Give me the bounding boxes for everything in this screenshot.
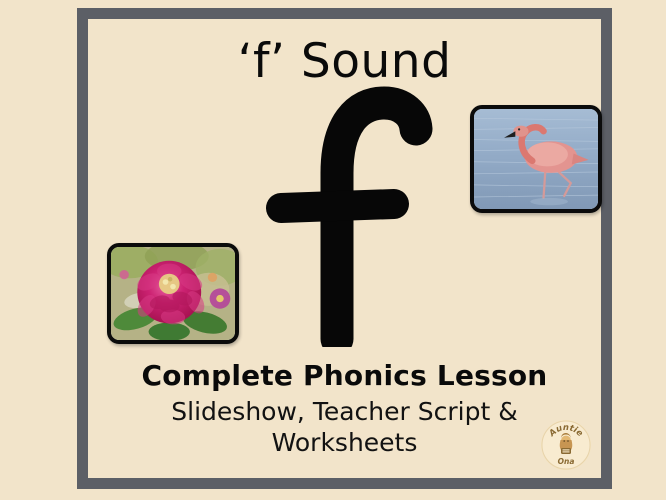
svg-text:Ona: Ona	[558, 457, 575, 466]
cover-frame: ‘f’ Sound	[77, 8, 612, 489]
flower-photo	[107, 243, 239, 344]
cover-frame-inner: ‘f’ Sound	[88, 19, 601, 478]
caption-block: Complete Phonics Lesson Slideshow, Teach…	[96, 360, 593, 458]
flamingo-photo	[470, 105, 602, 213]
page-title: ‘f’ Sound	[88, 37, 601, 86]
auntie-ona-logo: Auntie Ona	[541, 420, 591, 470]
caption-main: Complete Phonics Lesson	[96, 360, 593, 391]
caption-sub: Slideshow, Teacher Script & Worksheets	[96, 397, 593, 458]
resource-cover: ‘f’ Sound	[0, 0, 666, 500]
